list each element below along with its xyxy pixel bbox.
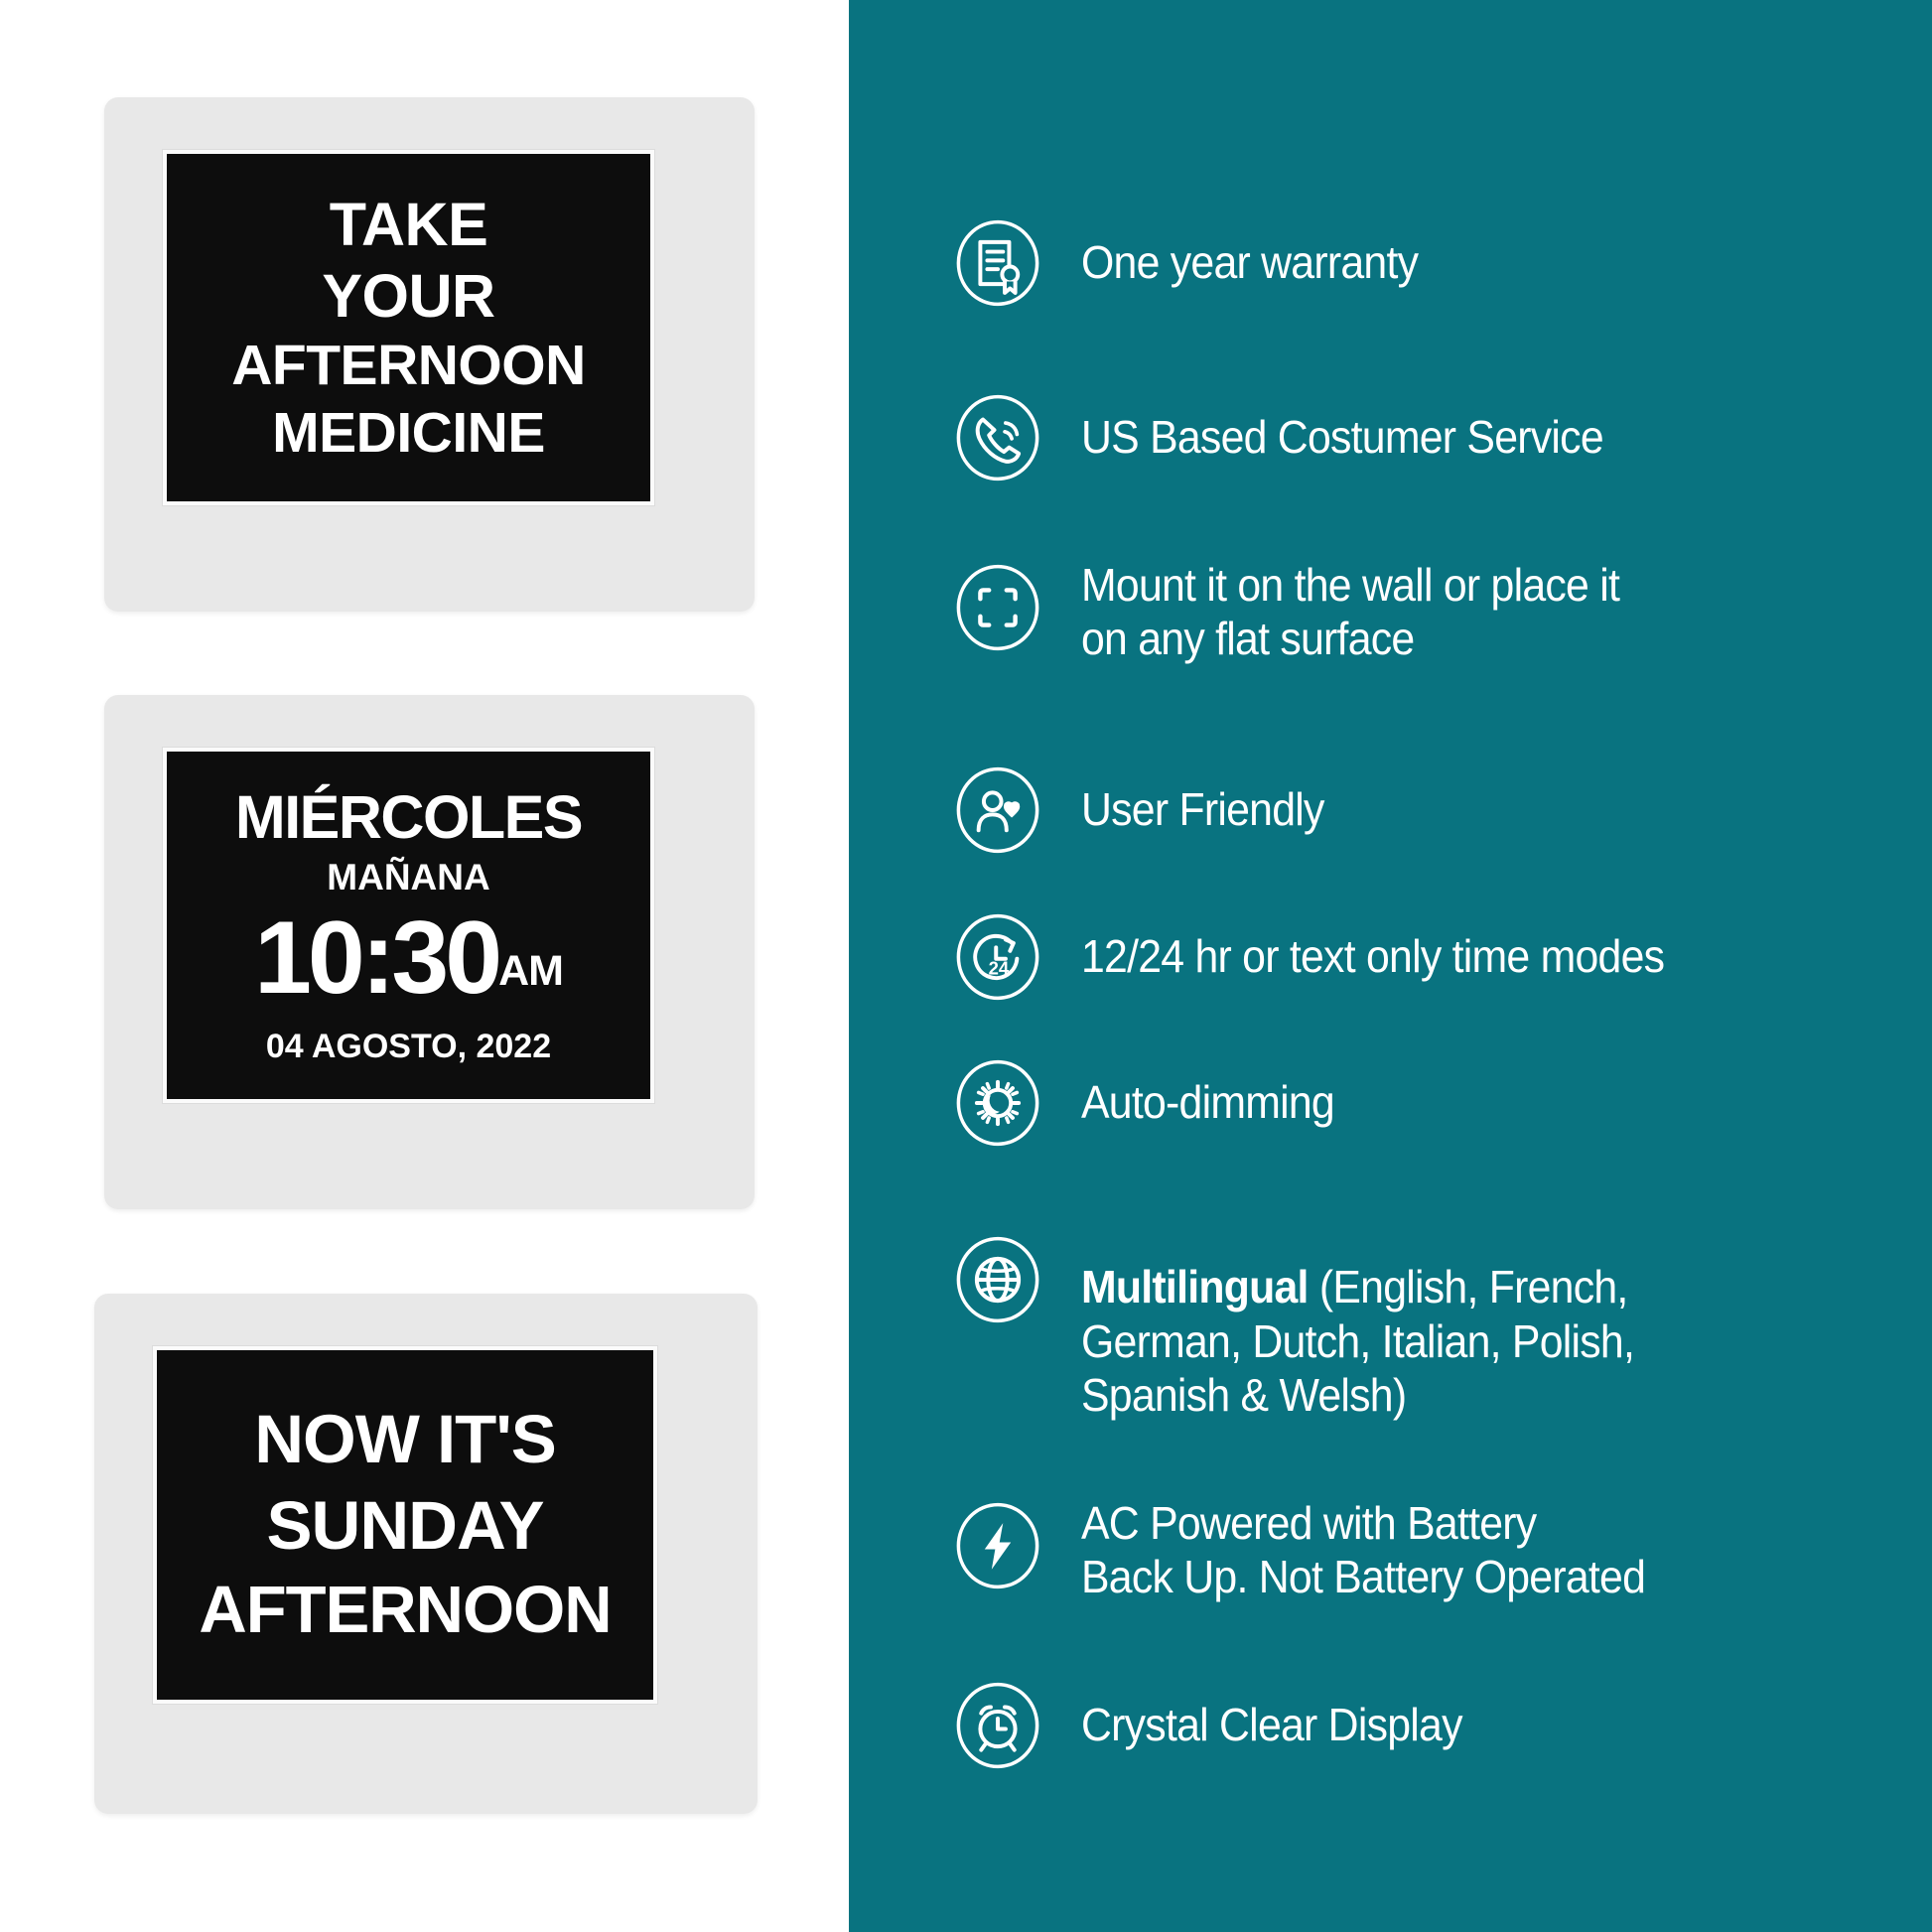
user-heart-icon: [954, 766, 1041, 854]
phone-support-icon: [954, 394, 1041, 482]
clock-screen-medicine: TAKE YOUR AFTERNOON MEDICINE: [167, 154, 650, 501]
feature-label: User Friendly: [1081, 782, 1324, 836]
clock1-line-2: YOUR: [322, 265, 494, 327]
feature-label: 12/24 hr or text only time modes: [1081, 929, 1664, 983]
clock1-line-4: MEDICINE: [272, 404, 545, 462]
feature-label: Multilingual (English, French, German, D…: [1081, 1206, 1634, 1422]
clock3-line-1: NOW IT'S: [254, 1405, 556, 1474]
feature-item-customer-service: US Based Costumer Service: [849, 394, 1642, 482]
clock2-day-of-week: MIÉRCOLES: [235, 787, 582, 848]
clock2-date: 04 AGOSTO, 2022: [266, 1030, 551, 1063]
clock3-line-2: SUNDAY: [266, 1491, 543, 1561]
svg-text:24: 24: [989, 958, 1010, 979]
feature-label: Mount it on the wall or place it on any …: [1081, 558, 1619, 666]
feature-label: Auto-dimming: [1081, 1075, 1334, 1129]
clock-screen-sunday: NOW IT'S SUNDAY AFTERNOON: [157, 1350, 653, 1700]
feature-label: US Based Costumer Service: [1081, 410, 1603, 464]
mount-frame-icon: [954, 564, 1041, 651]
feature-list-panel: One year warranty US Based Costumer Serv…: [849, 0, 1932, 1932]
feature-label: AC Powered with Battery Back Up. Not Bat…: [1081, 1496, 1645, 1604]
clock1-line-3: AFTERNOON: [231, 337, 585, 394]
globe-icon: [954, 1236, 1041, 1323]
alarm-clock-icon: [954, 1682, 1041, 1769]
certificate-icon: [954, 219, 1041, 307]
clock-bezel: MIÉRCOLES MAÑANA 10:30 AM 04 AGOSTO, 202…: [162, 747, 655, 1104]
clock-bezel: TAKE YOUR AFTERNOON MEDICINE: [162, 149, 655, 506]
feature-label: One year warranty: [1081, 235, 1418, 289]
feature-item-mounting: Mount it on the wall or place it on any …: [849, 564, 1660, 666]
feature-label: Crystal Clear Display: [1081, 1698, 1462, 1751]
clock-12-24-icon: 24: [954, 913, 1041, 1001]
feature-item-auto-dimming: Auto-dimming: [849, 1059, 1353, 1147]
clock2-time-value: 10:30: [254, 911, 498, 1007]
clock2-time-meridiem: AM: [498, 950, 563, 1006]
clock2-time-of-day: MAÑANA: [327, 859, 489, 896]
clock-screen-datetime: MIÉRCOLES MAÑANA 10:30 AM 04 AGOSTO, 202…: [167, 752, 650, 1099]
feature-item-multilingual: Multilingual (English, French, German, D…: [849, 1236, 1676, 1422]
feature-item-user-friendly: User Friendly: [849, 766, 1342, 854]
clock-frame-medicine: TAKE YOUR AFTERNOON MEDICINE: [104, 97, 755, 612]
feature-label-emphasis: Multilingual: [1081, 1261, 1309, 1312]
feature-item-time-modes: 24 12/24 hr or text only time modes: [849, 913, 1709, 1001]
clock2-time-row: 10:30 AM: [254, 911, 563, 1007]
clock-frame-datetime: MIÉRCOLES MAÑANA 10:30 AM 04 AGOSTO, 202…: [104, 695, 755, 1209]
clock3-line-3: AFTERNOON: [199, 1577, 611, 1644]
clock1-line-1: TAKE: [330, 194, 488, 255]
feature-item-warranty: One year warranty: [849, 219, 1444, 307]
feature-item-power: AC Powered with Battery Back Up. Not Bat…: [849, 1502, 1688, 1604]
feature-item-display: Crystal Clear Display: [849, 1682, 1491, 1769]
clock-frame-sunday: NOW IT'S SUNDAY AFTERNOON: [94, 1294, 758, 1814]
sun-moon-dimming-icon: [954, 1059, 1041, 1147]
clock-bezel: NOW IT'S SUNDAY AFTERNOON: [152, 1345, 658, 1705]
product-images-panel: TAKE YOUR AFTERNOON MEDICINE MIÉRCOLES M…: [0, 0, 849, 1932]
lightning-bolt-icon: [954, 1502, 1041, 1589]
